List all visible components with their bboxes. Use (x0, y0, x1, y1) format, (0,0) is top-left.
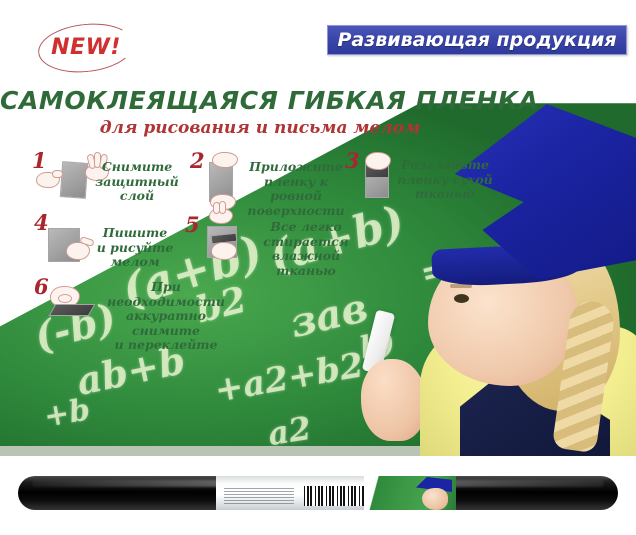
hand-top-icon (207, 204, 237, 224)
step-text: Разгладьте пленку сухой тканью (393, 158, 497, 202)
label-text-block-left (224, 488, 294, 504)
step-1: 1 Снимите защитный слой (30, 148, 180, 206)
step-5: 5 Все легко стирается влажной тканью (185, 204, 365, 270)
step-text: Пишите и рисуйте мелом (90, 226, 180, 270)
instruction-steps: 1 Снимите защитный слой 2 (0, 144, 520, 344)
hand-wiping-icon (211, 240, 241, 262)
step-number: 2 (190, 148, 205, 173)
page-subtitle: для рисования и письма мелом (0, 118, 520, 138)
step-number: 3 (345, 148, 360, 173)
hand-icon (365, 150, 393, 170)
step-number: 5 (185, 212, 200, 237)
step-number: 4 (34, 210, 49, 235)
title-block: САМОКЛЕЯЩАЯСЯ ГИБКАЯ ПЛЕНКА для рисовани… (0, 86, 520, 138)
page-title: САМОКЛЕЯЩАЯСЯ ГИБКАЯ ПЛЕНКА (0, 86, 520, 115)
step-6: 6 При неодходимости аккуратно снимите и … (30, 274, 230, 330)
poster-canvas: (a+b)(a+b)(-b)b2ab+bзав+a2+b2=3aa2+bb) N… (0, 0, 636, 535)
step-text: При неодходимости аккуратно снимите и пе… (96, 280, 236, 353)
hand-top-icon (212, 152, 240, 168)
step-4: 4 Пишите и рисуйте мелом (30, 210, 180, 268)
peeled-film-icon (49, 304, 96, 316)
step-3: 3 Разгладьте пленку сухой тканью (345, 148, 495, 206)
barcode (304, 486, 364, 506)
new-badge: NEW! (38, 24, 134, 72)
step-text: Все легко стирается влажной тканью (247, 220, 365, 278)
product-roll (18, 470, 618, 516)
category-banner-label: Развивающая продукция (337, 29, 616, 51)
new-badge-label: NEW! (38, 35, 134, 60)
product-label (216, 476, 456, 510)
label-face-graphic (422, 488, 448, 510)
category-banner: Развивающая продукция (327, 25, 627, 55)
step-text: Снимите защитный слой (94, 160, 180, 204)
hand-left-icon (36, 170, 62, 188)
step-number: 6 (34, 274, 49, 299)
